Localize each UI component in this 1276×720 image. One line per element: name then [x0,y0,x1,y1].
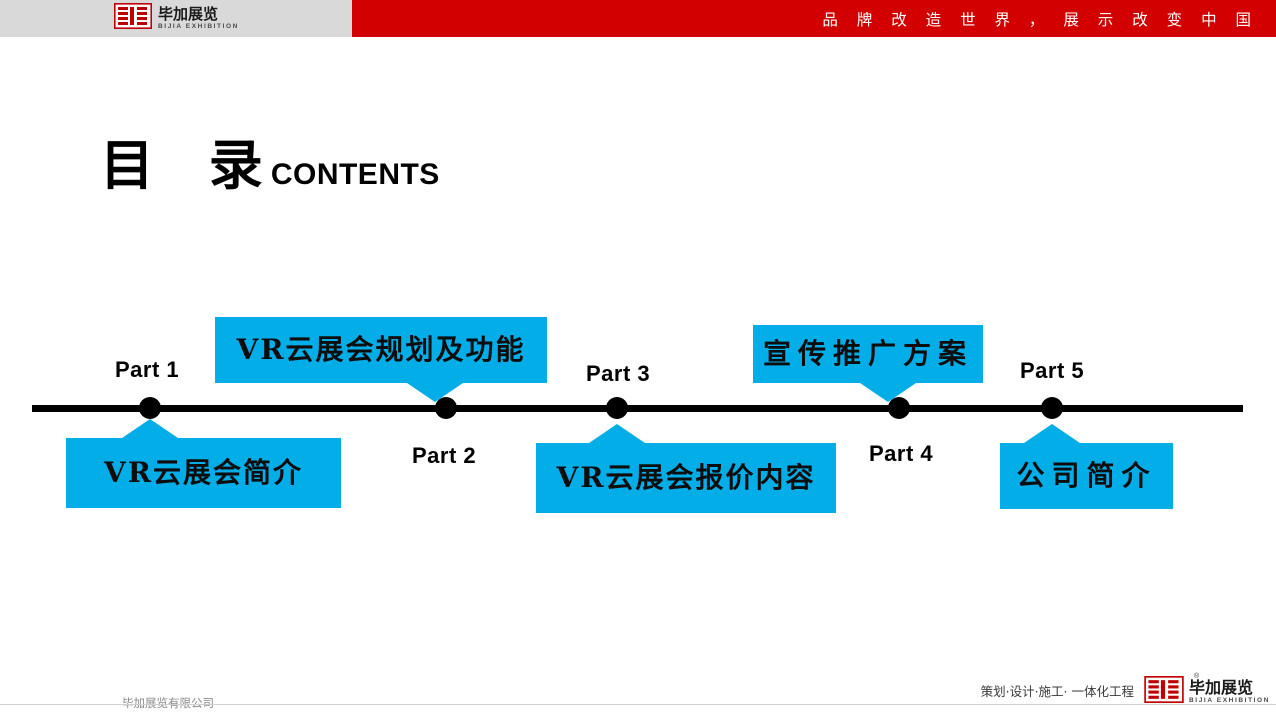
part-label-2: Part 2 [412,443,476,469]
callout-text-2: VR云展会规划及功能 [237,336,526,364]
brand-logo-header: 毕加展览 BIJIA EXHIBITION [114,4,244,33]
registered-trademark-icon: ® [1194,673,1199,680]
timeline-dot-5[interactable] [1041,397,1063,419]
brand-logo-wordmark-footer: 毕加展览 BIJIA EXHIBITION [1189,680,1270,705]
header-slogan: 品 牌 改 造 世 界 ， 展 示 改 变 中 国 [822,0,1258,37]
callout-part-2[interactable]: VR云展会规划及功能 [215,317,547,383]
callout-text-1: VR云展会简介 [104,459,303,487]
header-bar: 毕加展览 BIJIA EXHIBITION 品 牌 改 造 世 界 ， 展 示 … [0,0,1276,37]
callout-text-5: 公司简介 [1016,462,1156,490]
bijia-logo-icon [114,3,152,34]
callout-text-4: 宣传推广方案 [763,340,973,368]
brand-name-cn: 毕加展览 [158,7,239,22]
footer-tagline: 策划·设计·施工· 一体化工程 [981,686,1134,699]
brand-name-cn-footer: 毕加展览 [1189,680,1270,696]
part-label-4: Part 4 [869,441,933,467]
brand-logo-wordmark: 毕加展览 BIJIA EXHIBITION [158,7,239,31]
callout-part-5[interactable]: 公司简介 [1000,443,1173,509]
callout-text-3: VR云展会报价内容 [557,464,816,492]
callout-tail-1 [122,419,178,438]
brand-name-en: BIJIA EXHIBITION [158,24,239,31]
part-label-1: Part 1 [115,357,179,383]
callout-tail-4 [860,383,916,402]
page-title-cn: 目 录 [100,138,281,192]
callout-part-1[interactable]: VR云展会简介 [66,438,341,508]
callout-tail-3 [589,424,645,443]
callout-tail-5 [1024,424,1080,443]
callout-part-3[interactable]: VR云展会报价内容 [536,443,836,513]
page-title-en: CONTENTS [271,160,440,190]
part-label-5: Part 5 [1020,358,1084,384]
page-title: 目 录 CONTENTS [100,138,440,192]
footer-bottom-rule [0,704,1276,705]
part-label-3: Part 3 [586,361,650,387]
timeline-dot-3[interactable] [606,397,628,419]
timeline-dot-1[interactable] [139,397,161,419]
callout-tail-2 [407,383,463,402]
callout-part-4[interactable]: 宣传推广方案 [753,325,983,383]
